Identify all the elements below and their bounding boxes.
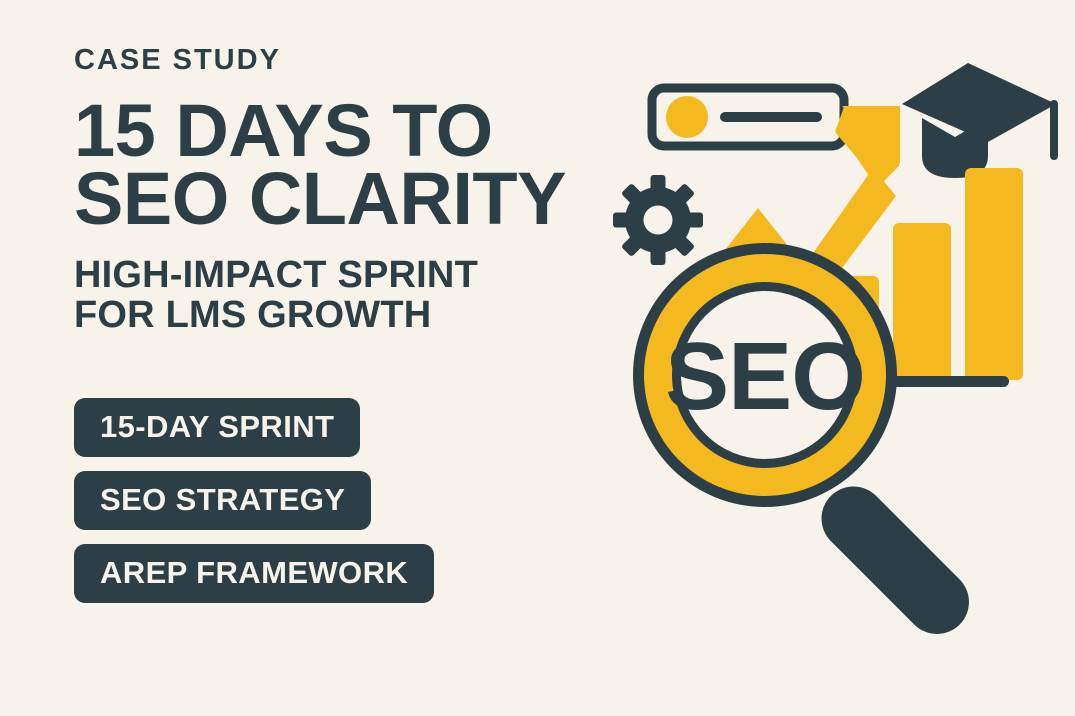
page-title: 15 DAYS TO SEO CLARITY — [74, 97, 594, 233]
tag-pill-framework[interactable]: AREP FRAMEWORK — [74, 544, 434, 603]
case-study-banner: CASE STUDY 15 DAYS TO SEO CLARITY HIGH-I… — [0, 0, 1075, 716]
subtitle-line-1: HIGH-IMPACT SPRINT — [74, 255, 594, 295]
graduation-cap-icon — [902, 63, 1058, 178]
subtitle-line-2: FOR LMS GROWTH — [74, 295, 594, 335]
search-bar-icon — [652, 88, 844, 146]
tag-list: 15-DAY SPRINT SEO STRATEGY AREP FRAMEWOR… — [74, 398, 434, 603]
tag-pill-strategy[interactable]: SEO STRATEGY — [74, 471, 371, 530]
headline-line-1: 15 DAYS TO — [74, 97, 594, 165]
tag-pill-sprint[interactable]: 15-DAY SPRINT — [74, 398, 360, 457]
subtitle: HIGH-IMPACT SPRINT FOR LMS GROWTH — [74, 255, 594, 336]
gear-icon — [613, 175, 703, 265]
seo-illustration: SEO — [600, 40, 1070, 680]
lens-label: SEO — [665, 323, 865, 430]
headline-line-2: SEO CLARITY — [74, 165, 594, 233]
eyebrow-label: CASE STUDY — [74, 46, 594, 75]
text-column: CASE STUDY 15 DAYS TO SEO CLARITY HIGH-I… — [74, 46, 594, 336]
